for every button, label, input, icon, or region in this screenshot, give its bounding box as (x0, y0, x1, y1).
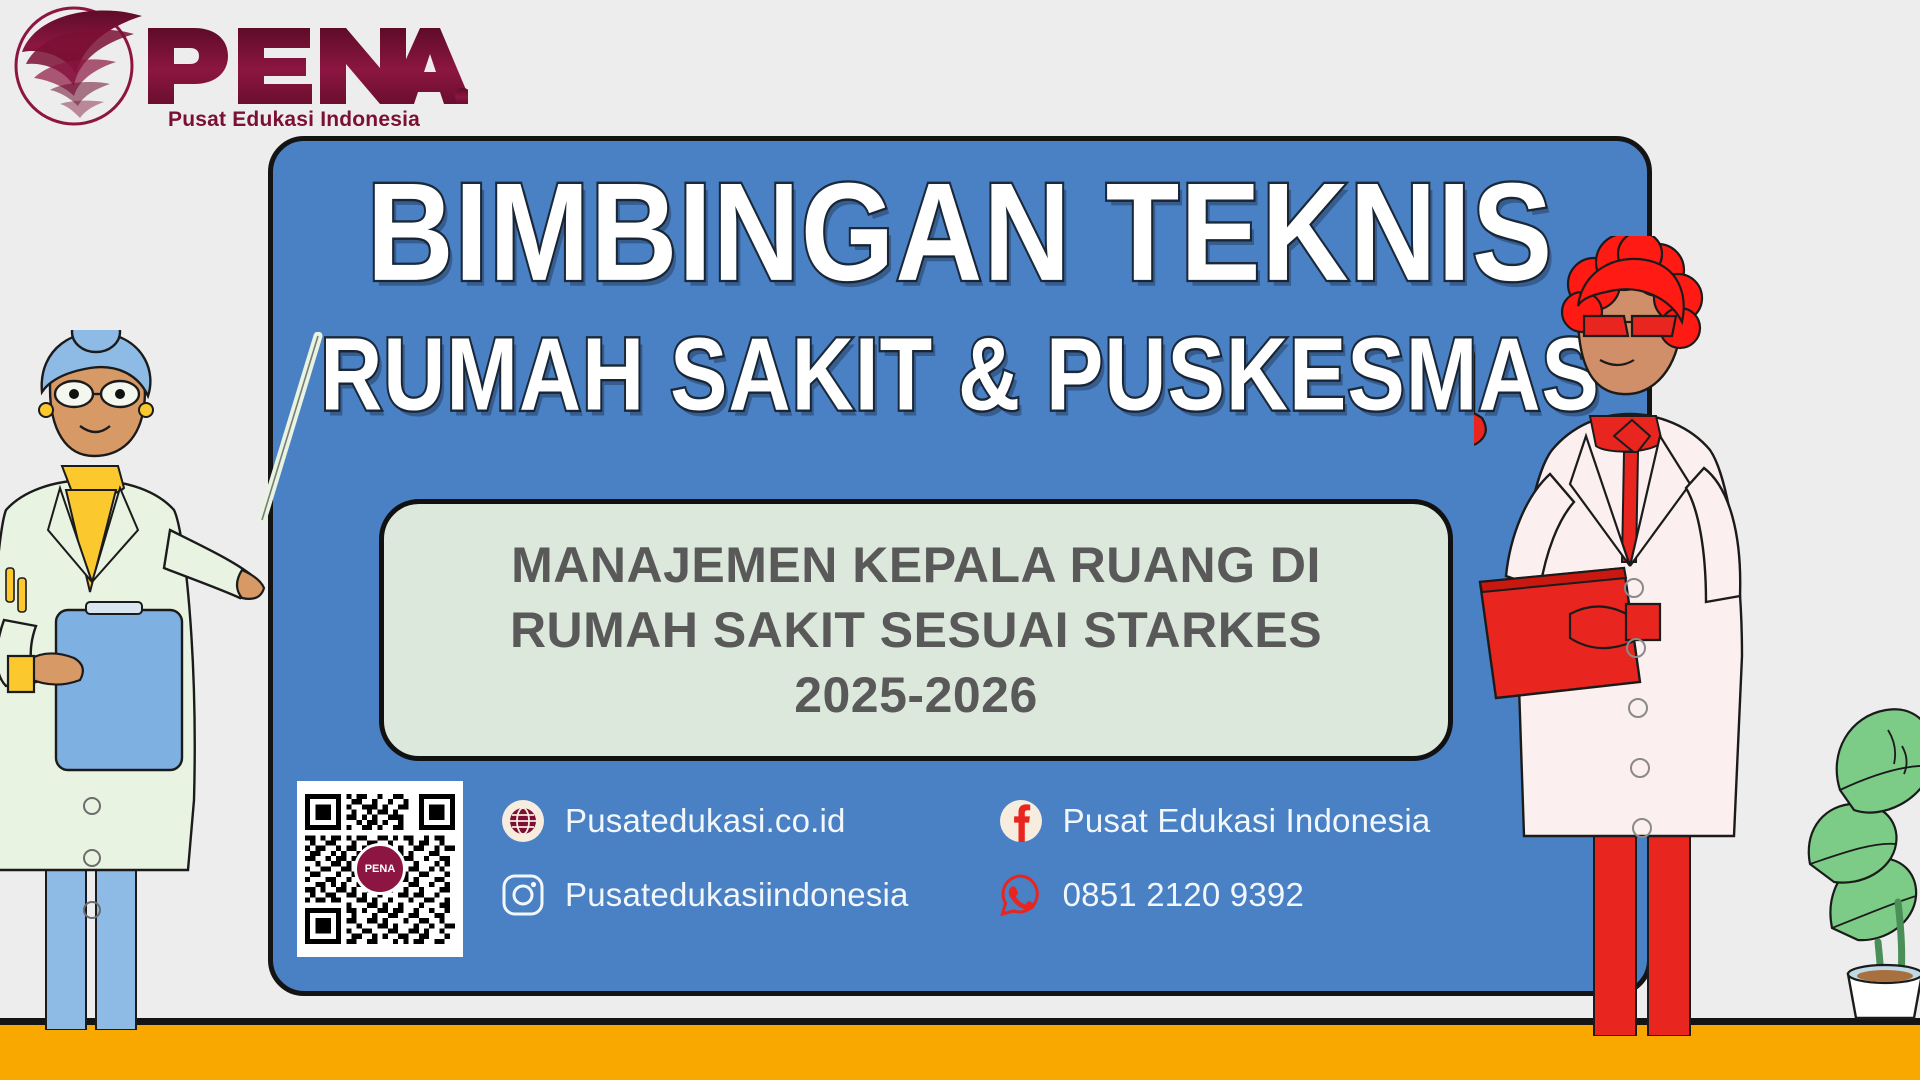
contact-whatsapp[interactable]: 0851 2120 9392 (999, 873, 1431, 917)
qr-center-logo: PENA (354, 843, 406, 895)
headline-line-1: BIMBINGAN TEKNIS (259, 163, 1660, 302)
headline-block: BIMBINGAN TEKNIS RUMAH SAKIT & PUSKESMAS (273, 163, 1647, 409)
promotional-banner: Pusat Edukasi Indonesia (0, 0, 1920, 1080)
contact-instagram-label: Pusatedukasiindonesia (565, 876, 909, 914)
subtitle-text: MANAJEMEN KEPALA RUANG DI RUMAH SAKIT SE… (486, 533, 1346, 728)
contact-whatsapp-label: 0851 2120 9392 (1063, 876, 1304, 914)
headline-line-2: RUMAH SAKIT & PUSKESMAS (273, 323, 1647, 426)
pointer-stick-icon (250, 332, 330, 532)
contact-website-label: Pusatedukasi.co.id (565, 802, 846, 840)
pena-wordmark (148, 28, 468, 104)
contact-columns: Pusatedukasi.co.id Pusatedukasiindonesia (501, 781, 1430, 917)
facebook-icon (999, 799, 1043, 843)
contact-column-left: Pusatedukasi.co.id Pusatedukasiindonesia (501, 799, 909, 917)
contact-facebook[interactable]: Pusat Edukasi Indonesia (999, 799, 1431, 843)
whatsapp-icon (999, 873, 1043, 917)
qr-code[interactable]: PENA (297, 781, 463, 957)
contact-website[interactable]: Pusatedukasi.co.id (501, 799, 909, 843)
contact-area: PENA (297, 781, 1627, 981)
globe-icon (501, 799, 545, 843)
logo-tagline: Pusat Edukasi Indonesia (168, 108, 420, 132)
contact-column-right: Pusat Edukasi Indonesia 0851 2120 9392 (999, 799, 1431, 917)
right-doctor-illustration (1474, 236, 1834, 1036)
left-doctor-illustration (0, 330, 288, 1030)
contact-facebook-label: Pusat Edukasi Indonesia (1063, 802, 1431, 840)
subtitle-box: MANAJEMEN KEPALA RUANG DI RUMAH SAKIT SE… (379, 499, 1453, 761)
feather-circle-icon (16, 8, 142, 124)
main-blue-card: BIMBINGAN TEKNIS RUMAH SAKIT & PUSKESMAS… (268, 136, 1652, 996)
pena-logo: Pusat Edukasi Indonesia (8, 4, 468, 134)
contact-instagram[interactable]: Pusatedukasiindonesia (501, 873, 909, 917)
instagram-icon (501, 873, 545, 917)
